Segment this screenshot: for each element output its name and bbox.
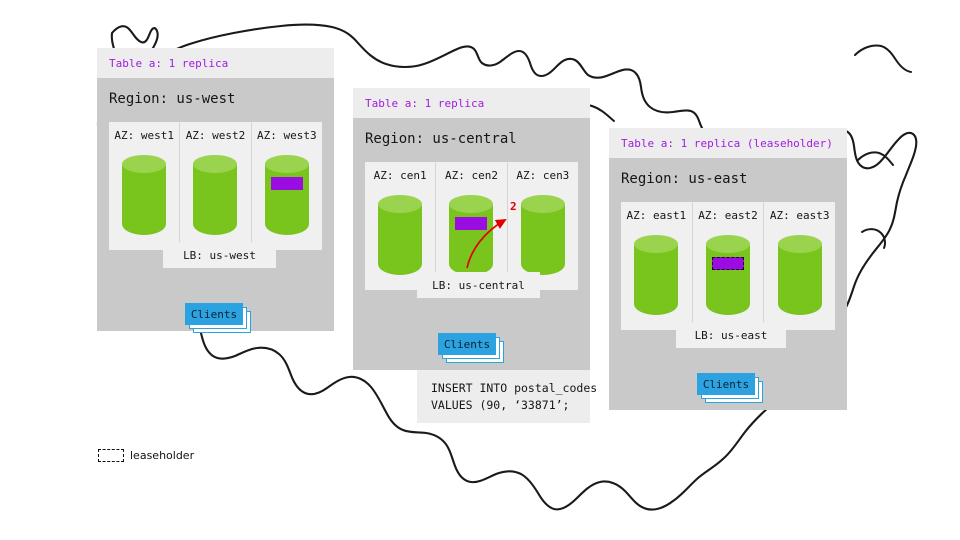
lb-label: LB: us-west	[183, 249, 256, 262]
region-header-us-central: Table a: 1 replica	[353, 88, 590, 118]
region-card-us-central: Table a: 1 replica Region: us-central AZ…	[353, 88, 590, 370]
cylinder-top	[449, 195, 493, 213]
region-title-us-east: Region: us-east	[621, 171, 747, 187]
region-body-us-central: Region: us-central AZ: cen1 AZ: cen2	[353, 118, 590, 370]
legend-leaseholder: leaseholder	[98, 449, 194, 462]
load-balancer-us-west[interactable]: LB: us-west	[163, 242, 276, 268]
cylinder-top	[378, 195, 422, 213]
clients-button-us-west[interactable]: Clients	[185, 303, 243, 325]
az-label-cen1: AZ: cen1	[365, 169, 435, 182]
sql-line-2: VALUES (90, ‘33871’;	[431, 397, 590, 414]
arrow-step-label-2: 2	[510, 200, 517, 213]
cylinder-body	[122, 164, 166, 235]
cylinder-top	[778, 235, 822, 253]
lb-label: LB: us-central	[432, 279, 525, 292]
cylinder-body	[378, 204, 422, 275]
az-cell-cen2[interactable]: AZ: cen2	[436, 162, 507, 290]
cylinder-body	[193, 164, 237, 235]
az-strip-us-central: AZ: cen1 AZ: cen2 AZ: cen3	[365, 162, 578, 290]
az-label-east1: AZ: east1	[621, 209, 692, 222]
dashed-rectangle-icon	[98, 449, 124, 462]
range-replica-west3[interactable]	[271, 177, 303, 190]
region-header-label: Table a: 1 replica	[365, 97, 484, 110]
cylinder-top	[265, 155, 309, 173]
az-label-east2: AZ: east2	[693, 209, 764, 222]
az-cell-west3[interactable]: AZ: west3	[252, 122, 322, 250]
node-cylinder-west1[interactable]	[122, 155, 166, 235]
cylinder-body	[265, 164, 309, 235]
clients-button-us-central[interactable]: Clients	[438, 333, 496, 355]
region-header-us-east: Table a: 1 replica (leaseholder)	[609, 128, 847, 158]
az-label-cen2: AZ: cen2	[436, 169, 506, 182]
clients-label: Clients	[191, 308, 237, 321]
az-label-east3: AZ: east3	[764, 209, 835, 222]
az-cell-east2[interactable]: AZ: east2	[693, 202, 765, 330]
node-cylinder-west2[interactable]	[193, 155, 237, 235]
az-label-west2: AZ: west2	[180, 129, 250, 142]
clients-label: Clients	[703, 378, 749, 391]
range-replica-cen2[interactable]	[455, 217, 487, 230]
cylinder-top	[193, 155, 237, 173]
clients-stack-us-central[interactable]: Clients	[438, 333, 508, 365]
node-cylinder-east2[interactable]	[706, 235, 750, 315]
az-cell-west1[interactable]: AZ: west1	[109, 122, 180, 250]
region-body-us-east: Region: us-east AZ: east1 AZ: east2	[609, 158, 847, 410]
node-cylinder-west3[interactable]	[265, 155, 309, 235]
cylinder-body	[521, 204, 565, 275]
cylinder-top	[521, 195, 565, 213]
region-body-us-west: Region: us-west AZ: west1 AZ: west2	[97, 78, 334, 331]
load-balancer-us-central[interactable]: LB: us-central	[417, 272, 540, 298]
clients-stack-us-west[interactable]: Clients	[185, 303, 255, 335]
region-header-label: Table a: 1 replica (leaseholder)	[621, 137, 833, 150]
diagram-canvas: Table a: 1 replica Region: us-west AZ: w…	[0, 0, 960, 540]
az-cell-west2[interactable]: AZ: west2	[180, 122, 251, 250]
region-title-us-west: Region: us-west	[109, 91, 235, 107]
region-card-us-east: Table a: 1 replica (leaseholder) Region:…	[609, 128, 847, 410]
region-header-us-west: Table a: 1 replica	[97, 48, 334, 78]
az-cell-cen1[interactable]: AZ: cen1	[365, 162, 436, 290]
cylinder-body	[706, 244, 750, 315]
az-cell-east3[interactable]: AZ: east3	[764, 202, 835, 330]
cylinder-body	[778, 244, 822, 315]
load-balancer-us-east[interactable]: LB: us-east	[676, 322, 786, 348]
node-cylinder-cen1[interactable]	[378, 195, 422, 275]
clients-label: Clients	[444, 338, 490, 351]
az-cell-east1[interactable]: AZ: east1	[621, 202, 693, 330]
cylinder-body	[449, 204, 493, 275]
cylinder-top	[706, 235, 750, 253]
range-replica-leaseholder-east2[interactable]	[712, 257, 744, 270]
cylinder-top	[122, 155, 166, 173]
region-title-us-central: Region: us-central	[365, 131, 517, 147]
az-label-cen3: AZ: cen3	[508, 169, 578, 182]
node-cylinder-east1[interactable]	[634, 235, 678, 315]
region-header-label: Table a: 1 replica	[109, 57, 228, 70]
az-label-west3: AZ: west3	[252, 129, 322, 142]
cylinder-top	[634, 235, 678, 253]
node-cylinder-cen3[interactable]	[521, 195, 565, 275]
cylinder-body	[634, 244, 678, 315]
node-cylinder-cen2[interactable]	[449, 195, 493, 275]
sql-line-1: INSERT INTO postal_codes	[431, 380, 590, 397]
lb-label: LB: us-east	[695, 329, 768, 342]
node-cylinder-east3[interactable]	[778, 235, 822, 315]
az-label-west1: AZ: west1	[109, 129, 179, 142]
az-strip-us-east: AZ: east1 AZ: east2 AZ: east3	[621, 202, 835, 330]
clients-button-us-east[interactable]: Clients	[697, 373, 755, 395]
az-strip-us-west: AZ: west1 AZ: west2 AZ: west3	[109, 122, 322, 250]
clients-stack-us-east[interactable]: Clients	[697, 373, 767, 405]
legend-label: leaseholder	[130, 449, 194, 462]
az-cell-cen3[interactable]: AZ: cen3	[508, 162, 578, 290]
sql-statement-box: INSERT INTO postal_codes VALUES (90, ‘33…	[417, 370, 590, 423]
region-card-us-west: Table a: 1 replica Region: us-west AZ: w…	[97, 48, 334, 331]
